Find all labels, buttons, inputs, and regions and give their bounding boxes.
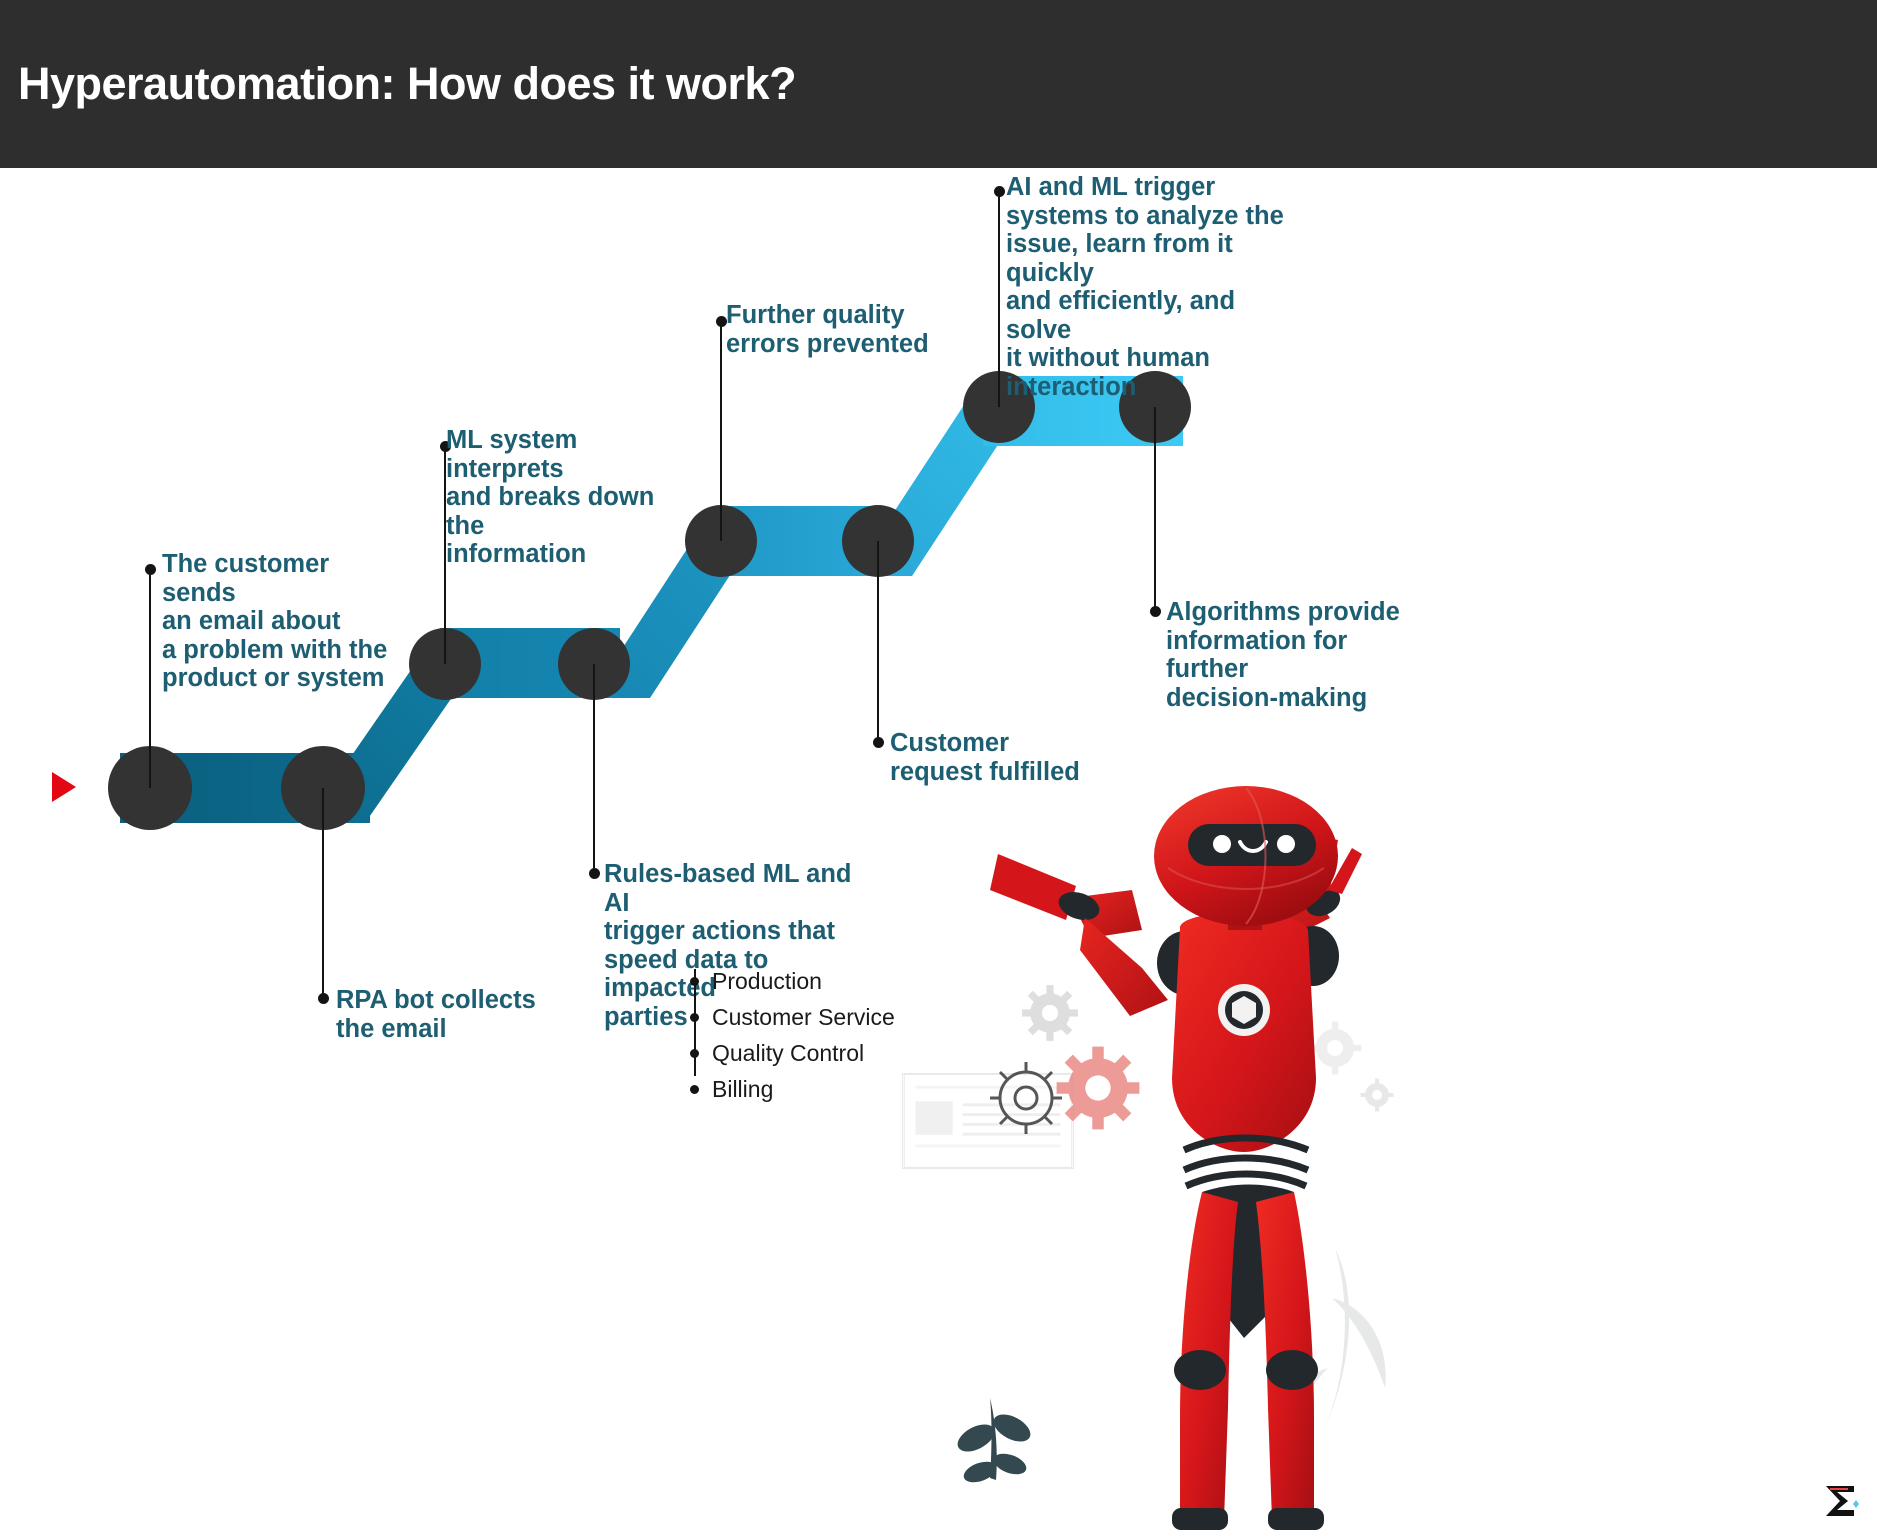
list-item-label: Customer Service bbox=[712, 1006, 895, 1029]
list-item[interactable]: Production bbox=[694, 963, 895, 999]
list-item-label: Quality Control bbox=[712, 1042, 864, 1065]
leader-dot-step-2 bbox=[318, 993, 329, 1004]
step-label-5: Further quality errors prevented bbox=[726, 301, 956, 358]
list-item-label: Billing bbox=[712, 1078, 773, 1101]
bullet-dot bbox=[690, 1049, 699, 1058]
leader-line-step-7 bbox=[998, 190, 1000, 407]
leader-dot-step-7 bbox=[994, 186, 1005, 197]
list-item[interactable]: Quality Control bbox=[694, 1035, 895, 1071]
step-label-3: ML system interprets and breaks down the… bbox=[446, 426, 696, 569]
leader-line-step-6 bbox=[877, 541, 879, 742]
leader-line-step-2 bbox=[322, 788, 324, 998]
robot-illustration bbox=[880, 778, 1500, 1536]
plant-decoration bbox=[953, 1398, 1035, 1486]
leader-dot-step-8 bbox=[1150, 606, 1161, 617]
robot-figure bbox=[990, 786, 1362, 1530]
play-arrow-icon[interactable] bbox=[52, 772, 76, 802]
bullet-dot bbox=[690, 1085, 699, 1094]
leader-dot-step-1 bbox=[145, 564, 156, 575]
header-bar: Hyperautomation: How does it work? bbox=[0, 0, 1877, 168]
leader-line-step-8 bbox=[1154, 407, 1156, 611]
infographic-canvas: The customer sends an email about a prob… bbox=[0, 168, 1877, 1536]
leader-dot-step-6 bbox=[873, 737, 884, 748]
list-item[interactable]: Customer Service bbox=[694, 999, 895, 1035]
leader-line-step-4 bbox=[593, 664, 595, 873]
leader-dot-step-4 bbox=[589, 868, 600, 879]
bullet-dot bbox=[690, 977, 699, 986]
list-item-label: Production bbox=[712, 970, 822, 993]
bullet-dot bbox=[690, 1013, 699, 1022]
leader-line-step-5 bbox=[720, 320, 722, 541]
list-item[interactable]: Billing bbox=[694, 1071, 895, 1107]
step-label-1: The customer sends an email about a prob… bbox=[162, 550, 402, 693]
page-title: Hyperautomation: How does it work? bbox=[18, 58, 796, 110]
department-list: Production Customer Service Quality Cont… bbox=[694, 963, 895, 1107]
step-label-7: AI and ML trigger systems to analyze the… bbox=[1006, 173, 1306, 401]
step-label-2: RPA bot collects the email bbox=[336, 986, 566, 1043]
sigma-logo-icon bbox=[1817, 1478, 1863, 1524]
step-label-8: Algorithms provide information for furth… bbox=[1166, 598, 1436, 712]
leader-line-step-1 bbox=[149, 568, 151, 788]
